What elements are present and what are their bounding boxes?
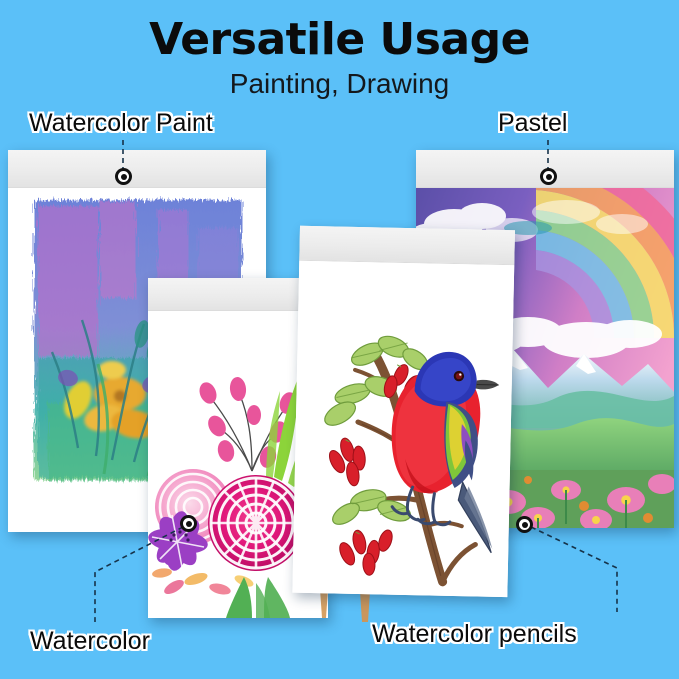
pad-sheet xyxy=(292,261,514,597)
pad-binding-strip xyxy=(299,226,515,265)
marker-core xyxy=(522,522,528,528)
marker-core xyxy=(121,174,127,180)
leader-watercolor-pencils xyxy=(531,527,617,612)
callout-label-pastel: Pastel xyxy=(498,109,567,138)
page-subtitle: Painting, Drawing xyxy=(0,68,679,100)
callout-marker-watercolor[interactable] xyxy=(180,515,197,532)
callout-label-watercolor: Watercolor xyxy=(30,627,150,656)
pad-binding-strip xyxy=(8,150,266,188)
marker-core xyxy=(546,174,552,180)
watercolor-pencils-pad xyxy=(292,226,515,597)
callout-label-watercolor-paint: Watercolor Paint xyxy=(29,109,213,138)
callout-marker-watercolor-pencils[interactable] xyxy=(516,516,533,533)
marker-core xyxy=(186,521,192,527)
callout-marker-watercolor-paint[interactable] xyxy=(115,168,132,185)
artwork-painted-bunting xyxy=(292,261,514,597)
callout-marker-pastel[interactable] xyxy=(540,168,557,185)
page-title: Versatile Usage xyxy=(0,14,679,65)
product-feature-image: Versatile Usage Painting, Drawing Waterc… xyxy=(0,0,679,679)
